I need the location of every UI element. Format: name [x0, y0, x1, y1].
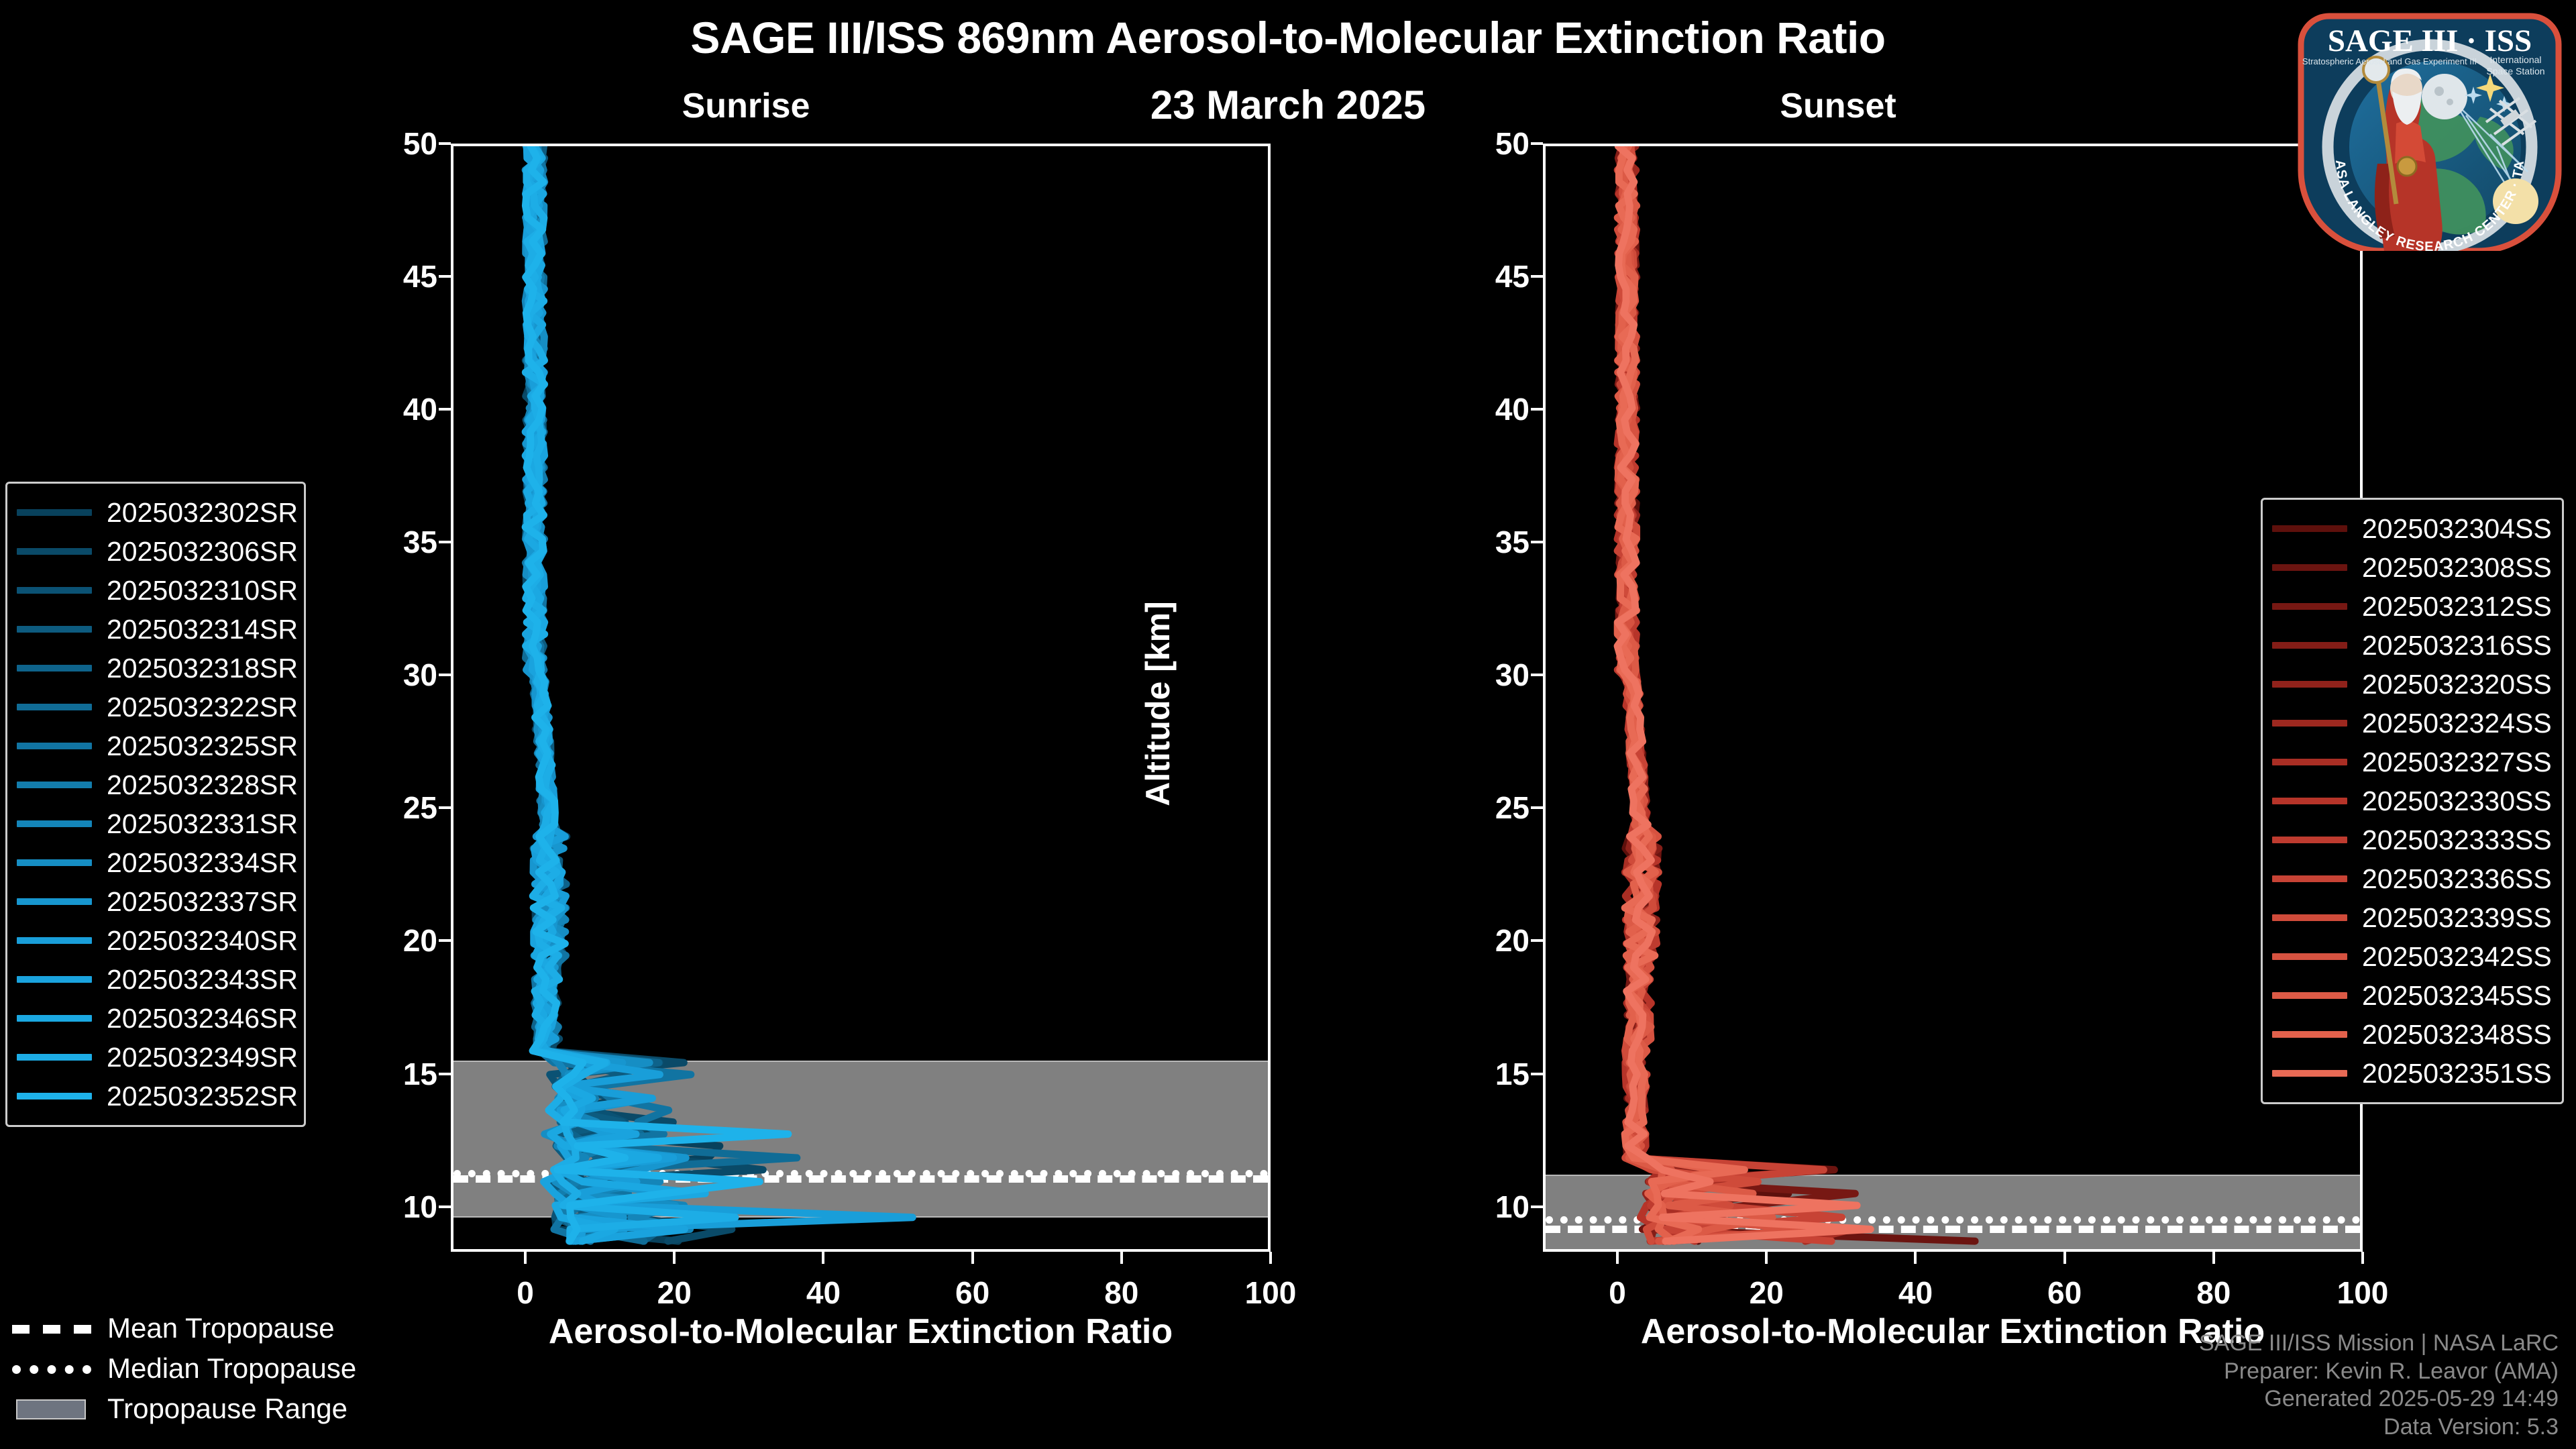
x-axis-tick-mark: [1120, 1252, 1123, 1264]
legend-series-label: 2025032340SR: [107, 927, 298, 955]
legend-item-series[interactable]: 2025032306SR: [17, 532, 292, 571]
x-axis-tick-mark: [2361, 1252, 2364, 1264]
x-axis-tick-mark: [1269, 1252, 1272, 1264]
footer-line-mission: SAGE III/ISS Mission | NASA LaRC: [2199, 1330, 2559, 1357]
legend-item-series[interactable]: 2025032352SR: [17, 1077, 292, 1116]
legend-color-swatch: [2272, 953, 2347, 960]
legend-item-series[interactable]: 2025032308SS: [2272, 548, 2550, 587]
x-axis-tick-label: 40: [1862, 1275, 1969, 1311]
profile-line: [1618, 146, 1975, 1241]
legend-color-swatch: [2272, 642, 2347, 649]
y-axis-tick-label: 40: [323, 391, 437, 427]
legend-item-series[interactable]: 2025032328SR: [17, 765, 292, 804]
x-axis-tick-mark: [1765, 1252, 1768, 1264]
legend-color-swatch: [2272, 992, 2347, 999]
y-axis-tick-label: 25: [323, 790, 437, 826]
y-axis-tick-label: 50: [1415, 125, 1529, 162]
legend-series-label: 2025032351SS: [2362, 1060, 2552, 1087]
legend-color-swatch: [17, 1054, 92, 1061]
legend-item-series[interactable]: 2025032325SR: [17, 727, 292, 765]
legend-color-swatch: [17, 509, 92, 516]
legend-label-median: Median Tropopause: [107, 1352, 356, 1385]
footer-line-preparer: Preparer: Kevin R. Leavor (AMA): [2199, 1358, 2559, 1385]
legend-item-series[interactable]: 2025032337SR: [17, 882, 292, 921]
moon-icon: [2422, 74, 2467, 119]
legend-series-label: 2025032304SS: [2362, 515, 2552, 543]
sunrise-x-axis-label: Aerosol-to-Molecular Extinction Ratio: [451, 1311, 1271, 1352]
legend-series-label: 2025032325SR: [107, 733, 298, 760]
y-axis-tick-label: 10: [1415, 1189, 1529, 1225]
legend-series-label: 2025032349SR: [107, 1044, 298, 1071]
x-axis-tick-mark: [524, 1252, 527, 1264]
y-axis-tick-mark: [439, 806, 451, 809]
legend-series-label: 2025032312SS: [2362, 593, 2552, 621]
page-title: SAGE III/ISS 869nm Aerosol-to-Molecular …: [0, 12, 2576, 63]
tropopause-legend: Mean Tropopause Median Tropopause Tropop…: [12, 1308, 388, 1429]
legend-series-label: 2025032324SS: [2362, 710, 2552, 737]
legend-label-mean: Mean Tropopause: [107, 1312, 335, 1344]
legend-item-tropopause-range: Tropopause Range: [12, 1389, 388, 1429]
legend-item-series[interactable]: 2025032324SS: [2272, 704, 2550, 743]
legend-color-swatch: [17, 1015, 92, 1022]
y-axis-tick-label: 35: [323, 524, 437, 560]
legend-item-series[interactable]: 2025032345SS: [2272, 976, 2550, 1015]
legend-color-swatch: [17, 859, 92, 866]
y-axis-tick-label: 15: [323, 1056, 437, 1092]
x-axis-tick-mark: [2063, 1252, 2066, 1264]
y-axis-tick-mark: [1531, 408, 1543, 411]
legend-color-swatch: [2272, 759, 2347, 765]
y-axis-tick-label: 50: [323, 125, 437, 162]
x-axis-tick-mark: [2212, 1252, 2215, 1264]
y-axis-tick-mark: [1531, 806, 1543, 809]
sunset-panel-title: Sunset: [1664, 86, 2012, 126]
legend-color-swatch: [17, 548, 92, 555]
profile-line: [1617, 146, 1870, 1241]
legend-color-swatch: [2272, 837, 2347, 843]
legend-color-swatch: [17, 1093, 92, 1099]
legend-item-series[interactable]: 2025032339SS: [2272, 898, 2550, 937]
legend-color-swatch: [17, 626, 92, 633]
x-axis-tick-mark: [673, 1252, 676, 1264]
y-axis-tick-mark: [439, 408, 451, 411]
logo-subtitle-left: Stratospheric Aerosol and Gas Experiment…: [2302, 56, 2477, 66]
legend-series-label: 2025032342SS: [2362, 943, 2552, 971]
y-axis-tick-mark: [1531, 1073, 1543, 1075]
y-axis-tick-mark: [1531, 1205, 1543, 1208]
legend-color-swatch: [17, 587, 92, 594]
footer-line-generated: Generated 2025-05-29 14:49: [2199, 1385, 2559, 1413]
legend-color-swatch: [17, 820, 92, 827]
legend-item-series[interactable]: 2025032316SS: [2272, 626, 2550, 665]
x-axis-tick-label: 100: [2309, 1275, 2416, 1311]
x-axis-tick-mark: [822, 1252, 824, 1264]
legend-series-label: 2025032339SS: [2362, 904, 2552, 932]
legend-item-series[interactable]: 2025032331SR: [17, 804, 292, 843]
legend-series-label: 2025032314SR: [107, 616, 298, 643]
date-subtitle: 23 March 2025: [0, 82, 2576, 128]
profile-line: [1617, 146, 1841, 1241]
dashed-line-icon: [12, 1319, 91, 1338]
legend-item-series[interactable]: 2025032334SR: [17, 843, 292, 882]
legend-item-series[interactable]: 2025032322SR: [17, 688, 292, 727]
x-axis-tick-label: 40: [769, 1275, 877, 1311]
y-axis-tick-label: 10: [323, 1189, 437, 1225]
sage-iii-iss-mission-patch-logo: BALL · NASA LANGLEY RESEARCH CENTER · TA…: [2289, 3, 2571, 251]
y-axis-tick-label: 45: [1415, 258, 1529, 294]
legend-item-series[interactable]: 2025032349SR: [17, 1038, 292, 1077]
legend-color-swatch: [17, 937, 92, 944]
y-axis-tick-label: 35: [1415, 524, 1529, 560]
legend-color-swatch: [17, 704, 92, 710]
legend-series-label: 2025032336SS: [2362, 865, 2552, 893]
y-axis-tick-label: 20: [323, 922, 437, 959]
y-axis-tick-label: 30: [1415, 657, 1529, 693]
legend-series-label: 2025032302SR: [107, 499, 298, 527]
y-axis-tick-mark: [439, 939, 451, 942]
y-axis-tick-mark: [439, 275, 451, 278]
legend-series-label: 2025032310SR: [107, 577, 298, 604]
legend-color-swatch: [2272, 525, 2347, 532]
sunset-series-legend[interactable]: 2025032304SS2025032308SS2025032312SS2025…: [2261, 498, 2564, 1104]
y-axis-tick-mark: [439, 541, 451, 543]
y-axis-tick-label: 45: [323, 258, 437, 294]
legend-color-swatch: [2272, 564, 2347, 571]
dotted-line-icon: [12, 1359, 91, 1378]
legend-item-mean-tropopause: Mean Tropopause: [12, 1308, 388, 1348]
legend-series-label: 2025032330SS: [2362, 788, 2552, 815]
x-axis-tick-label: 100: [1217, 1275, 1324, 1311]
legend-series-label: 2025032327SS: [2362, 749, 2552, 776]
legend-item-series[interactable]: 2025032342SS: [2272, 937, 2550, 976]
x-axis-tick-mark: [1914, 1252, 1917, 1264]
legend-item-series[interactable]: 2025032333SS: [2272, 820, 2550, 859]
legend-item-series[interactable]: 2025032343SR: [17, 960, 292, 999]
gray-swatch-icon: [12, 1399, 91, 1418]
legend-color-swatch: [2272, 914, 2347, 921]
legend-item-series[interactable]: 2025032340SR: [17, 921, 292, 960]
legend-series-label: 2025032352SR: [107, 1083, 298, 1110]
x-axis-tick-label: 20: [621, 1275, 728, 1311]
legend-color-swatch: [17, 782, 92, 788]
x-axis-tick-label: 80: [1068, 1275, 1175, 1311]
legend-color-swatch: [17, 976, 92, 983]
x-axis-tick-label: 60: [2011, 1275, 2118, 1311]
x-axis-tick-label: 20: [1713, 1275, 1820, 1311]
legend-item-series[interactable]: 2025032318SR: [17, 649, 292, 688]
legend-color-swatch: [2272, 681, 2347, 688]
legend-color-swatch: [17, 743, 92, 749]
legend-label-range: Tropopause Range: [107, 1393, 347, 1425]
legend-item-series[interactable]: 2025032320SS: [2272, 665, 2550, 704]
legend-color-swatch: [2272, 875, 2347, 882]
sunset-plot-area: [1543, 144, 2363, 1252]
legend-color-swatch: [2272, 603, 2347, 610]
sunrise-series-legend[interactable]: 2025032302SR2025032306SR2025032310SR2025…: [5, 482, 306, 1127]
legend-item-series[interactable]: 2025032330SS: [2272, 782, 2550, 820]
sunrise-panel-title: Sunrise: [572, 86, 920, 126]
legend-item-series[interactable]: 2025032351SS: [2272, 1054, 2550, 1093]
y-axis-tick-label: 15: [1415, 1056, 1529, 1092]
logo-subtitle-right-1: International: [2489, 54, 2541, 65]
y-axis-tick-mark: [439, 674, 451, 676]
legend-item-series[interactable]: 2025032312SS: [2272, 587, 2550, 626]
legend-item-series[interactable]: 2025032336SS: [2272, 859, 2550, 898]
figure-canvas: SAGE III/ISS 869nm Aerosol-to-Molecular …: [0, 0, 2576, 1449]
y-axis-tick-mark: [1531, 541, 1543, 543]
legend-color-swatch: [17, 898, 92, 905]
y-axis-tick-mark: [1531, 275, 1543, 278]
footer-line-version: Data Version: 5.3: [2199, 1413, 2559, 1441]
legend-item-series[interactable]: 2025032314SR: [17, 610, 292, 649]
legend-series-label: 2025032306SR: [107, 538, 298, 566]
x-axis-tick-label: 0: [1564, 1275, 1671, 1311]
y-axis-tick-mark: [439, 1205, 451, 1208]
profile-line: [1618, 146, 1856, 1241]
legend-series-label: 2025032337SR: [107, 888, 298, 916]
legend-series-label: 2025032331SR: [107, 810, 298, 838]
legend-item-series[interactable]: 2025032310SR: [17, 571, 292, 610]
x-axis-tick-label: 80: [2160, 1275, 2267, 1311]
y-axis-tick-mark: [1531, 142, 1543, 145]
y-axis-tick-mark: [439, 142, 451, 145]
y-axis-tick-label: 20: [1415, 922, 1529, 959]
legend-series-label: 2025032320SS: [2362, 671, 2552, 698]
x-axis-tick-mark: [971, 1252, 974, 1264]
y-axis-tick-label: 40: [1415, 391, 1529, 427]
legend-color-swatch: [2272, 1070, 2347, 1077]
legend-series-label: 2025032334SR: [107, 849, 298, 877]
legend-series-label: 2025032322SR: [107, 694, 298, 721]
legend-item-series[interactable]: 2025032346SR: [17, 999, 292, 1038]
y-axis-tick-mark: [439, 1073, 451, 1075]
footer-credits: SAGE III/ISS Mission | NASA LaRC Prepare…: [2199, 1330, 2559, 1441]
logo-title: SAGE III · ISS: [2328, 23, 2532, 58]
legend-item-series[interactable]: 2025032348SS: [2272, 1015, 2550, 1054]
legend-color-swatch: [2272, 798, 2347, 804]
y-axis-tick-mark: [1531, 674, 1543, 676]
legend-series-label: 2025032328SR: [107, 771, 298, 799]
legend-item-series[interactable]: 2025032304SS: [2272, 509, 2550, 548]
y-axis-tick-mark: [1531, 939, 1543, 942]
sunset-profile-curves: [1546, 146, 2360, 1249]
profile-line: [1617, 146, 1851, 1241]
legend-series-label: 2025032318SR: [107, 655, 298, 682]
legend-color-swatch: [2272, 1031, 2347, 1038]
legend-color-swatch: [17, 665, 92, 672]
legend-series-label: 2025032316SS: [2362, 632, 2552, 659]
x-axis-tick-label: 60: [919, 1275, 1026, 1311]
legend-series-label: 2025032333SS: [2362, 826, 2552, 854]
legend-series-label: 2025032308SS: [2362, 554, 2552, 582]
legend-series-label: 2025032345SS: [2362, 982, 2552, 1010]
sunset-y-axis-label: Altitude [km]: [1138, 563, 1177, 845]
legend-item-median-tropopause: Median Tropopause: [12, 1348, 388, 1389]
logo-subtitle-right-2: Space Station: [2486, 66, 2544, 76]
legend-series-label: 2025032343SR: [107, 966, 298, 994]
profile-line: [1617, 146, 1854, 1241]
x-axis-tick-mark: [1616, 1252, 1619, 1264]
legend-item-series[interactable]: 2025032327SS: [2272, 743, 2550, 782]
legend-series-label: 2025032346SR: [107, 1005, 298, 1032]
y-axis-tick-label: 30: [323, 657, 437, 693]
legend-color-swatch: [2272, 720, 2347, 727]
x-axis-tick-label: 0: [472, 1275, 579, 1311]
legend-series-label: 2025032348SS: [2362, 1021, 2552, 1049]
legend-item-series[interactable]: 2025032302SR: [17, 493, 292, 532]
y-axis-tick-label: 25: [1415, 790, 1529, 826]
